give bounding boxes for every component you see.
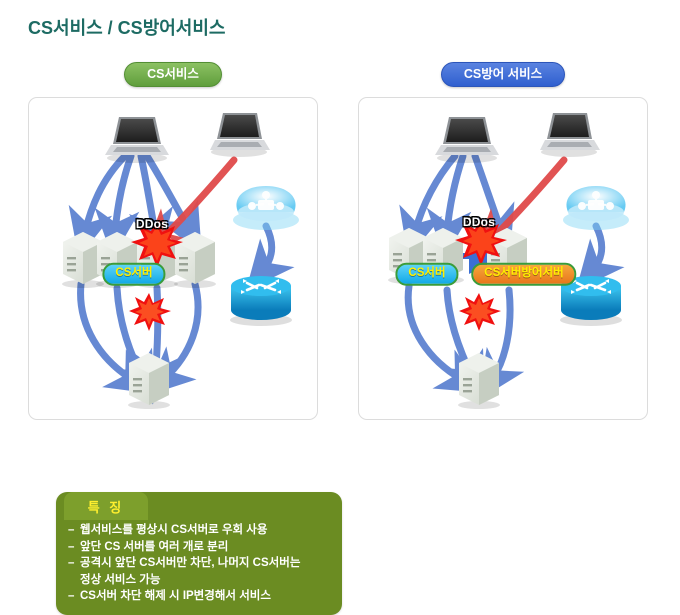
list-item: 공격시 앞단 CS서버만 차단, 나머지 CS서버는 정상 서비스 가능	[68, 555, 332, 588]
list-item: CS서버 차단 해제 시 IP변경해서 서비스	[68, 588, 332, 605]
feature-tab-label: 특 징	[64, 492, 148, 520]
laptop-icon	[210, 113, 270, 157]
server-rack-icon	[458, 353, 500, 409]
laptop-icon	[435, 117, 499, 163]
attack-burst-icon	[129, 293, 171, 331]
cs-defense-server-label[interactable]: CS서버방어서버	[471, 263, 576, 286]
diagram-graphics-right	[359, 98, 647, 419]
laptop-icon	[540, 113, 600, 157]
server-rack-icon	[128, 353, 170, 409]
router-icon	[230, 276, 292, 326]
list-item: 앞단 CS 서버를 여러 개로 분리	[68, 539, 332, 556]
laptop-icon	[105, 117, 169, 163]
cs-server-label[interactable]: CS서버	[395, 263, 458, 286]
feature-list: 웹서비스를 평상시 CS서버로 우회 사용 앞단 CS 서버를 여러 개로 분리…	[56, 522, 342, 605]
diagram-cs-service: DDos CS서버 본서버	[28, 97, 318, 420]
column-header-cs-service[interactable]: CS서비스	[124, 62, 222, 87]
cs-server-label[interactable]: CS서버	[102, 263, 165, 286]
list-item: 웹서비스를 평상시 CS서버로 우회 사용	[68, 522, 332, 539]
page-title: CS서비스 / CS방어서비스	[28, 14, 226, 40]
column-cs-defense-service: CS방어 서비스	[358, 62, 648, 420]
server-rack-icon	[174, 232, 216, 288]
cloud-icon	[233, 186, 299, 230]
column-header-cs-defense-service[interactable]: CS방어 서비스	[441, 62, 565, 87]
feature-box-cs-service: 특 징 웹서비스를 평상시 CS서버로 우회 사용 앞단 CS 서버를 여러 개…	[56, 492, 342, 615]
attack-burst-icon	[459, 293, 501, 331]
column-cs-service: CS서비스	[28, 62, 318, 420]
diagram-cs-defense-service: DDos CS서버 CS서버방어서버 본서버	[358, 97, 648, 420]
ddos-label: DDos	[136, 218, 168, 230]
diagram-graphics-left	[29, 98, 317, 419]
ddos-label: DDos	[463, 216, 495, 228]
cloud-icon	[563, 186, 629, 230]
